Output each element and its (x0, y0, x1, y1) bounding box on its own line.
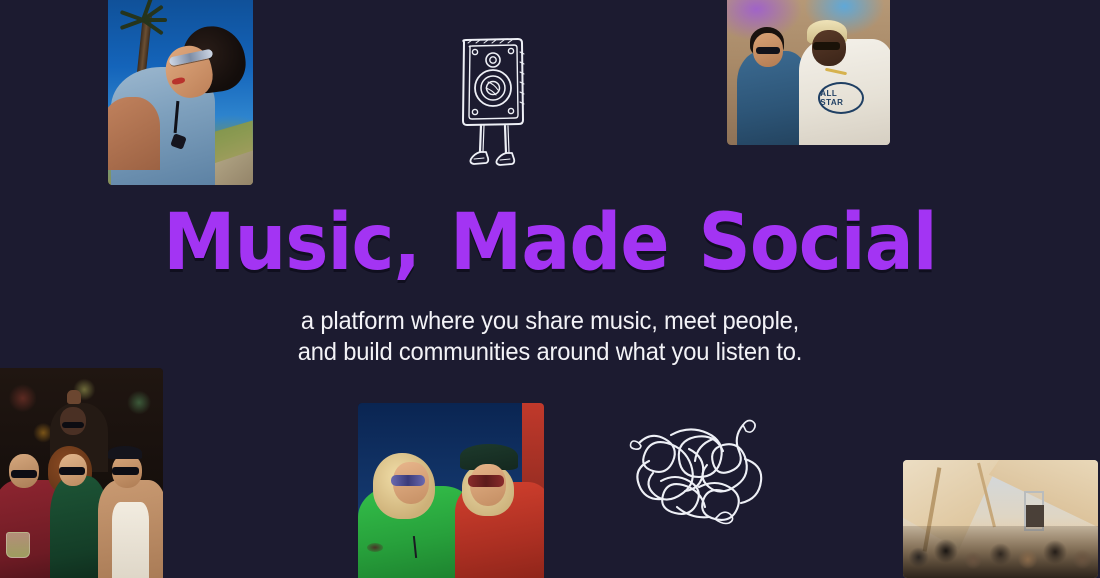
tangled-cables-doodle (625, 415, 780, 540)
hero-copy: Music, Made Social a platform where you … (0, 204, 1100, 368)
photo-festival-canopy (903, 460, 1098, 578)
baseball-cap (108, 446, 142, 459)
photo-two-women-sky (358, 403, 544, 578)
sunglasses-icon (112, 467, 139, 475)
all-star-tee-graphic: ALL STAR (818, 82, 864, 114)
photo-woman-palm-tree (108, 0, 253, 185)
palm-fronds (127, 4, 173, 38)
sunglasses-icon (11, 470, 37, 478)
hero-subtitle: a platform where you share music, meet p… (28, 306, 1073, 368)
speaker-doodle (448, 32, 536, 172)
hero-subtitle-line-2: and build communities around what you li… (28, 337, 1073, 368)
hero-subtitle-line-1: a platform where you share music, meet p… (28, 306, 1073, 337)
white-tank-top (112, 502, 150, 578)
photo-friends-bar (0, 368, 163, 578)
sunglasses-icon (468, 475, 504, 487)
page-title: Music, Made Social (39, 204, 1062, 282)
cocktail-glass (6, 532, 30, 558)
person-back-face (60, 407, 86, 435)
landing-hero: ALL STAR (0, 0, 1100, 578)
sunglasses-icon (756, 47, 780, 54)
sunglasses-icon (62, 422, 84, 428)
sunglasses-icon (59, 467, 85, 475)
subject-shoulder (108, 97, 160, 170)
sunglasses-icon (391, 475, 425, 486)
stage-screen (1026, 505, 1044, 527)
festival-crowd (903, 526, 1098, 578)
photo-festival-all-star: ALL STAR (727, 0, 890, 145)
sunglasses-icon (813, 42, 840, 50)
raised-hand (67, 390, 81, 404)
